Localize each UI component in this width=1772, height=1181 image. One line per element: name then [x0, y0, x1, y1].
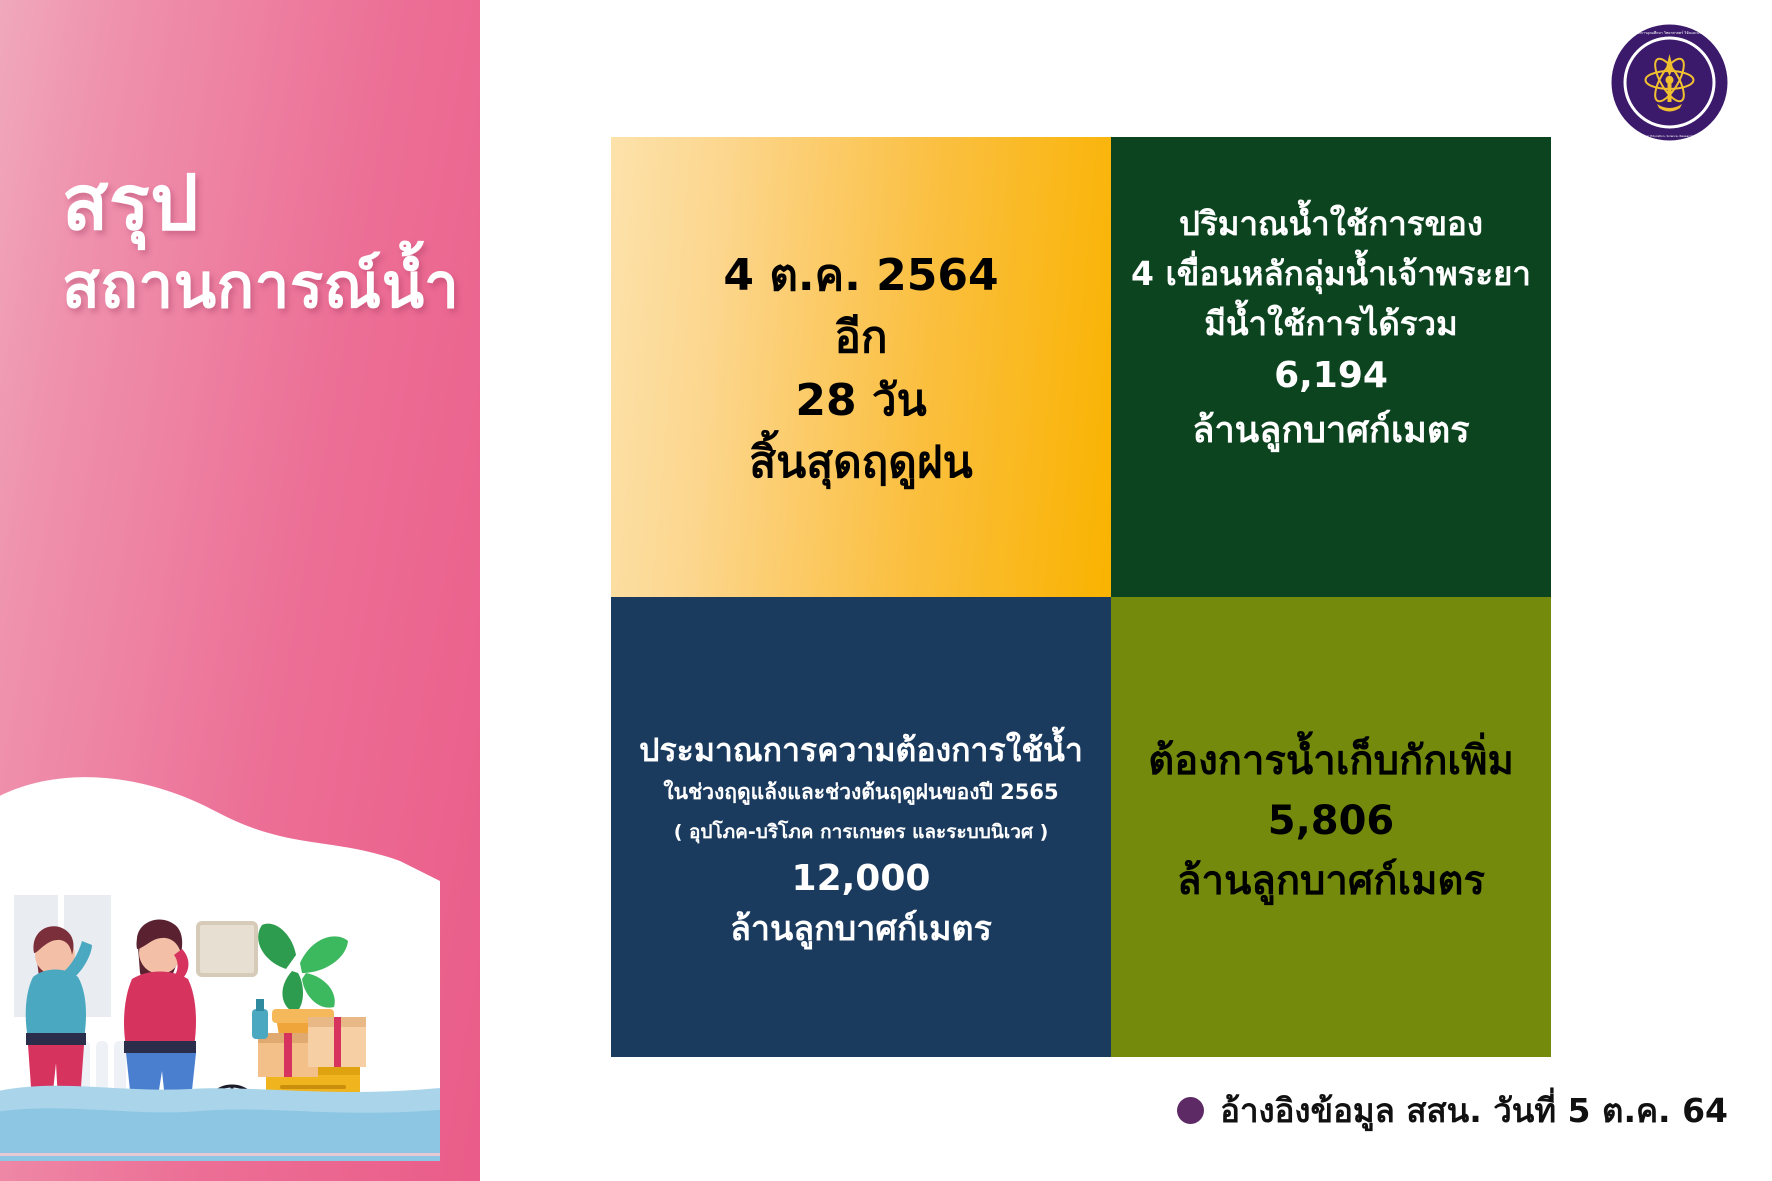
water-demand-value: 12,000	[627, 853, 1095, 905]
season-remaining-days: 28 วัน	[627, 370, 1095, 432]
storage-needed-unit: ล้านลูกบาศก์เมตร	[1127, 851, 1535, 911]
quadrant-water-demand: ประมาณการความต้องการใช้น้ำ ในช่วงฤดูแล้ง…	[611, 597, 1111, 1057]
season-remaining-label: อีก	[627, 307, 1095, 369]
usable-water-value: 6,194	[1127, 349, 1535, 404]
usable-water-line2: 4 เขื่อนหลักลุ่มน้ำเจ้าพระยา	[1127, 249, 1535, 299]
usable-water-line1: ปริมาณน้ำใช้การของ	[1127, 199, 1535, 249]
page-title: สรุป สถานการณ์น้ำ	[62, 160, 459, 321]
page-title-line2: สถานการณ์น้ำ	[62, 251, 459, 320]
usable-water-unit: ล้านลูกบาศก์เมตร	[1127, 404, 1535, 459]
water-demand-subline1: ในช่วงฤดูแล้งและช่วงต้นฤดูฝนของปี 2565	[627, 773, 1095, 813]
water-demand-unit: ล้านลูกบาศก์เมตร	[627, 905, 1095, 954]
storage-needed-heading: ต้องการน้ำเก็บกักเพิ่ม	[1127, 731, 1535, 791]
ministry-seal-logo: กระทรวงการอุดมศึกษา วิทยาศาสตร์ วิจัยและ…	[1607, 20, 1732, 145]
page-title-line1: สรุป	[62, 160, 459, 245]
water-demand-subline2: ( อุปโภค-บริโภค การเกษตร และระบบนิเวศ )	[627, 813, 1095, 853]
water-demand-heading: ประมาณการความต้องการใช้น้ำ	[627, 727, 1095, 773]
left-title-panel: สรุป สถานการณ์น้ำ	[0, 0, 480, 1181]
storage-needed-value: 5,806	[1127, 791, 1535, 851]
logo-ring-text-bottom: Ministry of Higher Education, Science, R…	[1624, 134, 1716, 138]
footer-credit: อ้างอิงข้อมูล สสน. วันที่ 5 ต.ค. 64	[1177, 1084, 1728, 1137]
season-end-label: สิ้นสุดฤดูฝน	[627, 432, 1095, 494]
quadrant-usable-water: ปริมาณน้ำใช้การของ 4 เขื่อนหลักลุ่มน้ำเจ…	[1111, 137, 1551, 597]
flood-illustration	[0, 741, 440, 1161]
quadrant-storage-needed: ต้องการน้ำเก็บกักเพิ่ม 5,806 ล้านลูกบาศก…	[1111, 597, 1551, 1057]
bullet-icon	[1177, 1097, 1204, 1124]
summary-quadrant-grid: 4 ต.ค. 2564 อีก 28 วัน สิ้นสุดฤดูฝน ปริม…	[611, 137, 1551, 1057]
quadrant-season-countdown: 4 ต.ค. 2564 อีก 28 วัน สิ้นสุดฤดูฝน	[611, 137, 1111, 597]
footer-credit-text: อ้างอิงข้อมูล สสน. วันที่ 5 ต.ค. 64	[1220, 1084, 1728, 1137]
usable-water-line3: มีน้ำใช้การได้รวม	[1127, 299, 1535, 349]
season-date: 4 ต.ค. 2564	[627, 245, 1095, 307]
